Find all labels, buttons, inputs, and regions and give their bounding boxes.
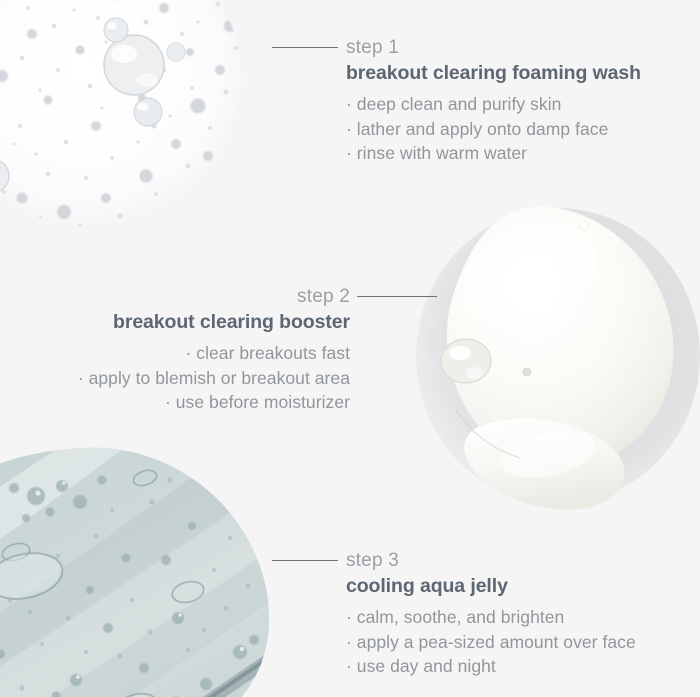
aqua-jelly-gel-image <box>0 440 330 697</box>
step-3-text-block: step 3 cooling aqua jelly · calm, soothe… <box>346 549 636 679</box>
booster-cream-drop-image <box>398 196 700 516</box>
connector-line-step-2 <box>357 296 437 297</box>
step-3-bullet-1: · calm, soothe, and brighten <box>346 605 636 630</box>
step-1-bullet-2: · lather and apply onto damp face <box>346 117 641 142</box>
step-1-bullet-3: · rinse with warm water <box>346 141 641 166</box>
step-3-bullet-2: · apply a pea-sized amount over face <box>346 630 636 655</box>
step-2-text-block: step 2 breakout clearing booster · clear… <box>0 285 350 415</box>
step-1-bullets: · deep clean and purify skin · lather an… <box>346 92 641 166</box>
connector-line-step-3 <box>272 560 338 561</box>
step-2-label: step 2 <box>0 285 350 309</box>
step-3-bullet-3: · use day and night <box>346 654 636 679</box>
step-2-bullet-1: · clear breakouts fast <box>0 341 350 366</box>
step-1-text-block: step 1 breakout clearing foaming wash · … <box>346 36 641 166</box>
step-1-title: breakout clearing foaming wash <box>346 60 641 86</box>
step-3-title: cooling aqua jelly <box>346 573 636 599</box>
step-3-bullets: · calm, soothe, and brighten · apply a p… <box>346 605 636 679</box>
connector-line-step-1 <box>272 47 338 48</box>
foaming-wash-lather-image <box>0 0 290 260</box>
infographic-canvas: step 1 breakout clearing foaming wash · … <box>0 0 700 697</box>
step-1-bullet-1: · deep clean and purify skin <box>346 92 641 117</box>
step-2-title: breakout clearing booster <box>0 309 350 335</box>
step-2-bullets: · clear breakouts fast · apply to blemis… <box>0 341 350 415</box>
step-1-label: step 1 <box>346 36 641 60</box>
step-3-label: step 3 <box>346 549 636 573</box>
step-2-bullet-3: · use before moisturizer <box>0 390 350 415</box>
step-2-bullet-2: · apply to blemish or breakout area <box>0 366 350 391</box>
